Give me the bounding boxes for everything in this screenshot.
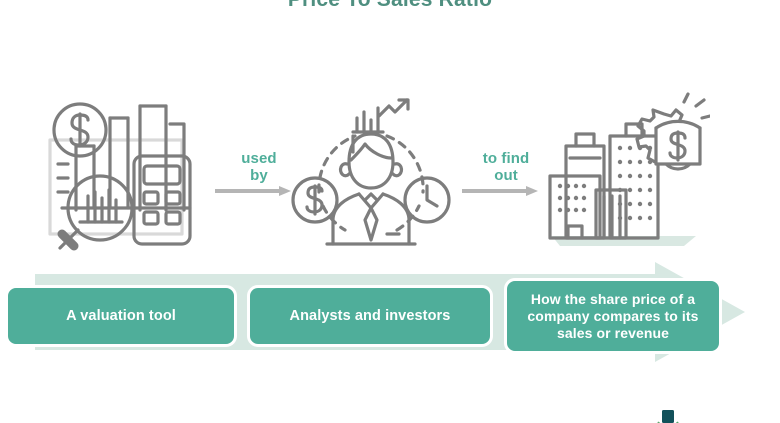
connector-2-line1: to find [458, 150, 554, 167]
arrow-right-icon [211, 186, 307, 196]
connector-1-line1: used [211, 150, 307, 167]
connector-1-line2: by [211, 167, 307, 184]
callout-box-label: How the share price of a company compare… [515, 291, 711, 342]
callout-box-label: A valuation tool [66, 308, 176, 325]
connector-to-find-out: to find out [458, 150, 554, 210]
corner-logo-mark [655, 408, 681, 423]
page-title: Price To Sales Ratio [0, 0, 780, 12]
analyst-person-icon [283, 88, 459, 256]
illustration-row [0, 88, 780, 258]
callout-box-share-price-sales: How the share price of a company compare… [504, 278, 722, 354]
infographic-canvas: Price To Sales Ratio [0, 0, 780, 423]
connector-2-line2: out [458, 167, 554, 184]
callout-box-label: Analysts and investors [290, 308, 451, 325]
chart-calculator-magnifier-icon [32, 88, 208, 256]
arrow-right-icon [458, 186, 554, 196]
city-buildings-gear-icon [534, 88, 710, 256]
callout-box-analysts-investors: Analysts and investors [247, 285, 493, 347]
connector-used-by: used by [211, 150, 307, 210]
callout-box-valuation-tool: A valuation tool [5, 285, 237, 347]
